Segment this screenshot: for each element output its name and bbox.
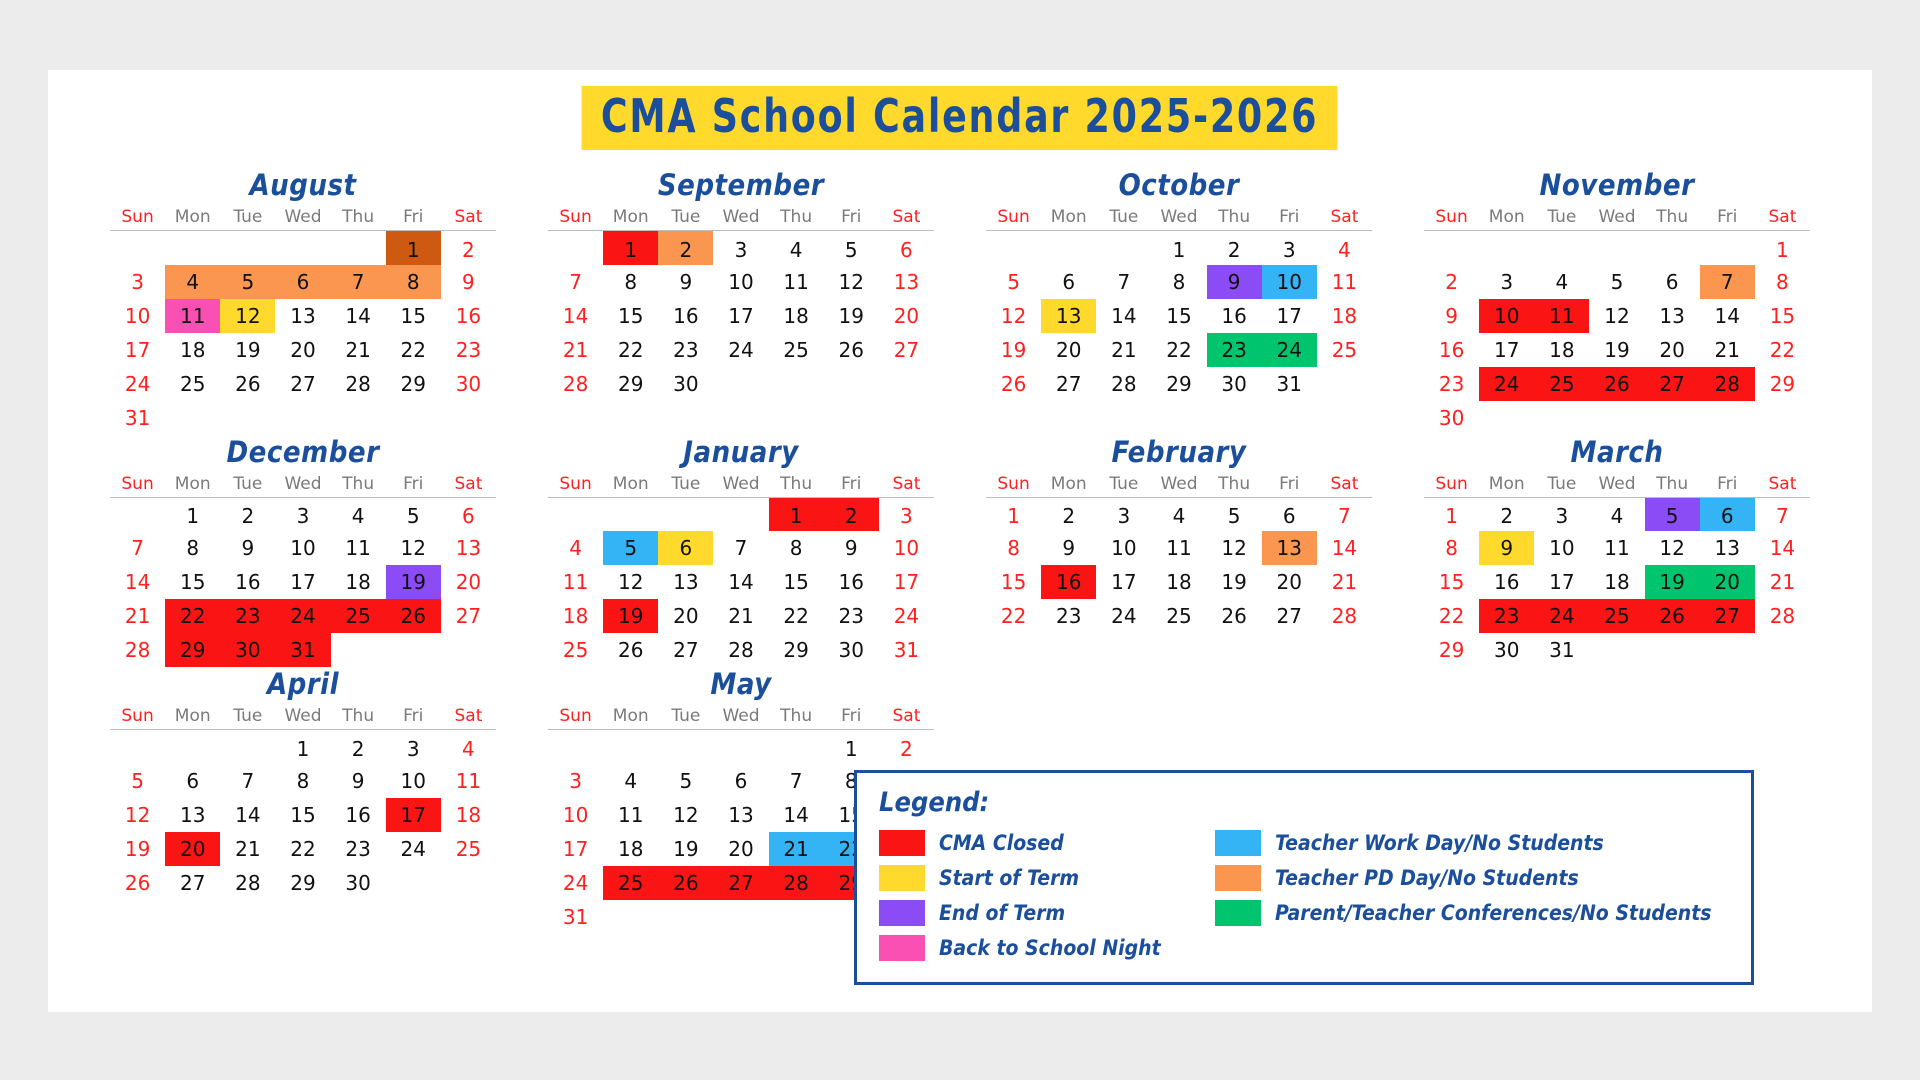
day-cell[interactable]: 2	[1424, 265, 1479, 299]
day-cell[interactable]: 9	[658, 265, 713, 299]
day-cell[interactable]: 30	[1479, 633, 1534, 667]
day-cell[interactable]: 25	[441, 832, 496, 866]
day-cell[interactable]: 11	[548, 565, 603, 599]
day-cell[interactable]: 1	[1151, 231, 1206, 265]
day-cell[interactable]: 28	[1317, 599, 1372, 633]
day-cell[interactable]: 8	[386, 265, 441, 299]
day-cell[interactable]: 3	[713, 231, 768, 265]
day-cell[interactable]: 27	[879, 333, 934, 367]
day-cell[interactable]: 17	[548, 832, 603, 866]
day-cell[interactable]: 14	[548, 299, 603, 333]
day-cell[interactable]: 26	[110, 866, 165, 900]
day-cell[interactable]: 31	[1534, 633, 1589, 667]
day-cell[interactable]: 20	[1645, 333, 1700, 367]
day-cell[interactable]: 17	[110, 333, 165, 367]
day-cell[interactable]: 24	[275, 599, 330, 633]
day-cell[interactable]: 18	[1151, 565, 1206, 599]
day-cell[interactable]: 28	[110, 633, 165, 667]
day-cell[interactable]: 8	[275, 764, 330, 798]
day-cell[interactable]: 18	[165, 333, 220, 367]
day-cell[interactable]: 23	[1041, 599, 1096, 633]
day-cell[interactable]: 2	[824, 497, 879, 531]
day-cell[interactable]: 22	[769, 599, 824, 633]
day-cell[interactable]: 25	[1589, 599, 1644, 633]
day-cell[interactable]: 13	[165, 798, 220, 832]
day-cell[interactable]: 16	[1207, 299, 1262, 333]
day-cell[interactable]: 27	[441, 599, 496, 633]
day-cell[interactable]: 15	[1424, 565, 1479, 599]
day-cell[interactable]: 3	[879, 497, 934, 531]
day-cell[interactable]: 2	[1207, 231, 1262, 265]
day-cell[interactable]: 3	[1534, 497, 1589, 531]
day-cell[interactable]: 17	[275, 565, 330, 599]
day-cell[interactable]: 5	[824, 231, 879, 265]
day-cell[interactable]: 30	[658, 367, 713, 401]
day-cell[interactable]: 15	[275, 798, 330, 832]
day-cell[interactable]: 26	[658, 866, 713, 900]
day-cell[interactable]: 24	[1534, 599, 1589, 633]
day-cell[interactable]: 8	[1755, 265, 1810, 299]
day-cell[interactable]: 27	[713, 866, 768, 900]
day-cell[interactable]: 15	[769, 565, 824, 599]
day-cell[interactable]: 14	[769, 798, 824, 832]
day-cell[interactable]: 20	[713, 832, 768, 866]
day-cell[interactable]: 17	[879, 565, 934, 599]
day-cell[interactable]: 12	[1207, 531, 1262, 565]
day-cell[interactable]: 14	[110, 565, 165, 599]
day-cell[interactable]: 21	[1096, 333, 1151, 367]
day-cell[interactable]: 31	[275, 633, 330, 667]
day-cell[interactable]: 11	[441, 764, 496, 798]
day-cell[interactable]: 23	[658, 333, 713, 367]
day-cell[interactable]: 22	[1755, 333, 1810, 367]
day-cell[interactable]: 25	[548, 633, 603, 667]
day-cell[interactable]: 6	[879, 231, 934, 265]
day-cell[interactable]: 6	[658, 531, 713, 565]
day-cell[interactable]: 1	[386, 231, 441, 265]
day-cell[interactable]: 3	[275, 497, 330, 531]
day-cell[interactable]: 25	[1151, 599, 1206, 633]
day-cell[interactable]: 18	[769, 299, 824, 333]
day-cell[interactable]: 14	[331, 299, 386, 333]
day-cell[interactable]: 7	[548, 265, 603, 299]
day-cell[interactable]: 29	[1424, 633, 1479, 667]
day-cell[interactable]: 13	[1041, 299, 1096, 333]
day-cell[interactable]: 6	[441, 497, 496, 531]
day-cell[interactable]: 9	[331, 764, 386, 798]
day-cell[interactable]: 29	[386, 367, 441, 401]
day-cell[interactable]: 14	[1700, 299, 1755, 333]
day-cell[interactable]: 16	[441, 299, 496, 333]
day-cell[interactable]: 21	[548, 333, 603, 367]
day-cell[interactable]: 19	[824, 299, 879, 333]
day-cell[interactable]: 22	[1424, 599, 1479, 633]
day-cell[interactable]: 28	[1096, 367, 1151, 401]
day-cell[interactable]: 1	[1424, 497, 1479, 531]
day-cell[interactable]: 5	[986, 265, 1041, 299]
day-cell[interactable]: 20	[1700, 565, 1755, 599]
day-cell[interactable]: 23	[441, 333, 496, 367]
day-cell[interactable]: 25	[1534, 367, 1589, 401]
day-cell[interactable]: 26	[1645, 599, 1700, 633]
day-cell[interactable]: 26	[986, 367, 1041, 401]
day-cell[interactable]: 19	[110, 832, 165, 866]
day-cell[interactable]: 11	[603, 798, 658, 832]
day-cell[interactable]: 17	[386, 798, 441, 832]
day-cell[interactable]: 15	[1151, 299, 1206, 333]
day-cell[interactable]: 19	[603, 599, 658, 633]
day-cell[interactable]: 1	[603, 231, 658, 265]
day-cell[interactable]: 10	[879, 531, 934, 565]
day-cell[interactable]: 23	[331, 832, 386, 866]
day-cell[interactable]: 20	[879, 299, 934, 333]
day-cell[interactable]: 12	[110, 798, 165, 832]
day-cell[interactable]: 15	[603, 299, 658, 333]
day-cell[interactable]: 21	[769, 832, 824, 866]
day-cell[interactable]: 20	[1262, 565, 1317, 599]
day-cell[interactable]: 24	[1096, 599, 1151, 633]
day-cell[interactable]: 29	[1151, 367, 1206, 401]
day-cell[interactable]: 2	[441, 231, 496, 265]
day-cell[interactable]: 1	[769, 497, 824, 531]
day-cell[interactable]: 4	[331, 497, 386, 531]
day-cell[interactable]: 8	[1151, 265, 1206, 299]
day-cell[interactable]: 2	[879, 730, 934, 764]
day-cell[interactable]: 10	[713, 265, 768, 299]
day-cell[interactable]: 18	[441, 798, 496, 832]
day-cell[interactable]: 3	[1262, 231, 1317, 265]
day-cell[interactable]: 24	[713, 333, 768, 367]
day-cell[interactable]: 19	[386, 565, 441, 599]
day-cell[interactable]: 1	[824, 730, 879, 764]
day-cell[interactable]: 4	[1317, 231, 1372, 265]
day-cell[interactable]: 28	[1755, 599, 1810, 633]
day-cell[interactable]: 13	[1700, 531, 1755, 565]
day-cell[interactable]: 29	[165, 633, 220, 667]
day-cell[interactable]: 28	[220, 866, 275, 900]
day-cell[interactable]: 27	[275, 367, 330, 401]
day-cell[interactable]: 29	[275, 866, 330, 900]
day-cell[interactable]: 19	[1589, 333, 1644, 367]
day-cell[interactable]: 26	[1207, 599, 1262, 633]
day-cell[interactable]: 20	[275, 333, 330, 367]
day-cell[interactable]: 13	[441, 531, 496, 565]
day-cell[interactable]: 2	[1041, 497, 1096, 531]
day-cell[interactable]: 6	[1645, 265, 1700, 299]
day-cell[interactable]: 9	[1207, 265, 1262, 299]
day-cell[interactable]: 28	[1700, 367, 1755, 401]
day-cell[interactable]: 27	[658, 633, 713, 667]
day-cell[interactable]: 7	[1096, 265, 1151, 299]
day-cell[interactable]: 17	[713, 299, 768, 333]
day-cell[interactable]: 18	[1317, 299, 1372, 333]
day-cell[interactable]: 11	[769, 265, 824, 299]
day-cell[interactable]: 30	[331, 866, 386, 900]
day-cell[interactable]: 12	[1589, 299, 1644, 333]
day-cell[interactable]: 26	[220, 367, 275, 401]
day-cell[interactable]: 8	[1424, 531, 1479, 565]
day-cell[interactable]: 21	[1317, 565, 1372, 599]
day-cell[interactable]: 7	[1317, 497, 1372, 531]
week-row: 1234	[986, 231, 1372, 265]
day-cell[interactable]: 8	[986, 531, 1041, 565]
day-cell[interactable]: 7	[713, 531, 768, 565]
day-cell[interactable]: 3	[1096, 497, 1151, 531]
day-cell[interactable]: 27	[1645, 367, 1700, 401]
day-cell[interactable]: 4	[1151, 497, 1206, 531]
day-cell-empty	[658, 730, 713, 764]
day-cell[interactable]: 14	[1755, 531, 1810, 565]
day-cell[interactable]: 18	[1589, 565, 1644, 599]
day-cell[interactable]: 28	[769, 866, 824, 900]
day-cell[interactable]: 22	[1151, 333, 1206, 367]
day-cell[interactable]: 20	[165, 832, 220, 866]
day-cell[interactable]: 7	[1755, 497, 1810, 531]
day-cell[interactable]: 19	[220, 333, 275, 367]
day-cell[interactable]: 8	[769, 531, 824, 565]
day-cell[interactable]: 8	[165, 531, 220, 565]
day-cell[interactable]: 11	[165, 299, 220, 333]
day-cell[interactable]: 16	[658, 299, 713, 333]
day-cell[interactable]: 30	[220, 633, 275, 667]
day-cell[interactable]: 5	[1589, 265, 1644, 299]
day-cell[interactable]: 25	[331, 599, 386, 633]
day-cell[interactable]: 6	[713, 764, 768, 798]
day-cell-empty	[1645, 401, 1700, 435]
day-cell[interactable]: 14	[1096, 299, 1151, 333]
day-cell[interactable]: 19	[1645, 565, 1700, 599]
day-cell[interactable]: 28	[331, 367, 386, 401]
day-cell[interactable]: 6	[275, 265, 330, 299]
day-cell[interactable]: 17	[1534, 565, 1589, 599]
day-cell[interactable]: 10	[1096, 531, 1151, 565]
day-cell[interactable]: 22	[275, 832, 330, 866]
day-cell[interactable]: 25	[603, 866, 658, 900]
day-cell[interactable]: 2	[1479, 497, 1534, 531]
day-cell[interactable]: 20	[1041, 333, 1096, 367]
day-cell[interactable]: 9	[1479, 531, 1534, 565]
day-cell[interactable]: 12	[1645, 531, 1700, 565]
day-cell[interactable]: 18	[603, 832, 658, 866]
day-cell[interactable]: 1	[1755, 231, 1810, 265]
day-cell[interactable]: 4	[1589, 497, 1644, 531]
day-cell[interactable]: 7	[110, 531, 165, 565]
day-cell[interactable]: 21	[110, 599, 165, 633]
day-cell[interactable]: 3	[548, 764, 603, 798]
day-cell[interactable]: 18	[548, 599, 603, 633]
day-cell[interactable]: 5	[220, 265, 275, 299]
day-cell[interactable]: 10	[1262, 265, 1317, 299]
day-cell[interactable]: 1	[986, 497, 1041, 531]
day-cell[interactable]: 17	[1262, 299, 1317, 333]
day-cell[interactable]: 21	[220, 832, 275, 866]
day-cell[interactable]: 16	[1479, 565, 1534, 599]
day-cell[interactable]: 14	[713, 565, 768, 599]
day-cell[interactable]: 22	[386, 333, 441, 367]
day-cell[interactable]: 6	[1262, 497, 1317, 531]
day-cell[interactable]: 4	[769, 231, 824, 265]
day-cell[interactable]: 10	[275, 531, 330, 565]
day-cell[interactable]: 5	[110, 764, 165, 798]
day-cell[interactable]: 31	[548, 900, 603, 934]
day-cell[interactable]: 5	[1207, 497, 1262, 531]
day-cell[interactable]: 20	[441, 565, 496, 599]
day-cell[interactable]: 25	[165, 367, 220, 401]
day-cell[interactable]: 22	[603, 333, 658, 367]
day-cell[interactable]: 7	[769, 764, 824, 798]
day-cell[interactable]: 16	[1424, 333, 1479, 367]
day-cell[interactable]: 10	[1479, 299, 1534, 333]
day-cell[interactable]: 4	[603, 764, 658, 798]
day-cell[interactable]: 28	[713, 633, 768, 667]
day-cell[interactable]: 5	[658, 764, 713, 798]
day-cell[interactable]: 13	[1645, 299, 1700, 333]
day-cell[interactable]: 8	[603, 265, 658, 299]
day-cell[interactable]: 9	[220, 531, 275, 565]
day-cell[interactable]: 9	[441, 265, 496, 299]
day-cell[interactable]: 23	[1207, 333, 1262, 367]
day-cell[interactable]: 27	[1041, 367, 1096, 401]
weekday-header-mon: Mon	[165, 706, 220, 730]
day-cell[interactable]: 20	[658, 599, 713, 633]
day-cell[interactable]: 29	[769, 633, 824, 667]
day-cell[interactable]: 16	[220, 565, 275, 599]
day-cell[interactable]: 27	[1262, 599, 1317, 633]
day-cell[interactable]: 14	[220, 798, 275, 832]
day-cell[interactable]: 17	[1479, 333, 1534, 367]
day-cell[interactable]: 13	[658, 565, 713, 599]
day-cell[interactable]: 2	[220, 497, 275, 531]
day-cell[interactable]: 12	[220, 299, 275, 333]
day-cell[interactable]: 21	[1755, 565, 1810, 599]
day-cell[interactable]: 31	[879, 633, 934, 667]
day-cell[interactable]: 24	[1262, 333, 1317, 367]
day-cell[interactable]: 30	[824, 633, 879, 667]
day-cell[interactable]: 3	[386, 730, 441, 764]
day-cell[interactable]: 1	[275, 730, 330, 764]
day-cell[interactable]: 5	[603, 531, 658, 565]
day-cell[interactable]: 26	[603, 633, 658, 667]
day-cell[interactable]: 21	[1700, 333, 1755, 367]
day-cell[interactable]: 7	[220, 764, 275, 798]
day-cell[interactable]: 24	[1479, 367, 1534, 401]
day-cell[interactable]: 15	[986, 565, 1041, 599]
day-cell[interactable]: 6	[1041, 265, 1096, 299]
day-cell[interactable]: 26	[1589, 367, 1644, 401]
day-cell[interactable]: 22	[986, 599, 1041, 633]
day-cell[interactable]: 29	[1755, 367, 1810, 401]
day-cell[interactable]: 18	[1534, 333, 1589, 367]
day-cell[interactable]: 12	[386, 531, 441, 565]
day-cell[interactable]: 16	[1041, 565, 1096, 599]
day-cell[interactable]: 4	[165, 265, 220, 299]
day-cell[interactable]: 2	[658, 231, 713, 265]
day-cell[interactable]: 5	[1645, 497, 1700, 531]
day-cell[interactable]: 19	[1207, 565, 1262, 599]
day-cell[interactable]: 12	[658, 798, 713, 832]
day-cell[interactable]: 23	[1479, 599, 1534, 633]
day-cell[interactable]: 11	[1317, 265, 1372, 299]
day-cell[interactable]: 6	[165, 764, 220, 798]
day-cell[interactable]: 27	[165, 866, 220, 900]
day-cell[interactable]: 10	[110, 299, 165, 333]
day-cell[interactable]: 29	[603, 367, 658, 401]
day-cell[interactable]: 6	[1700, 497, 1755, 531]
day-cell[interactable]: 10	[1534, 531, 1589, 565]
day-cell[interactable]: 2	[331, 730, 386, 764]
day-cell[interactable]: 31	[110, 401, 165, 435]
day-cell[interactable]: 5	[386, 497, 441, 531]
day-cell[interactable]: 13	[275, 299, 330, 333]
day-cell[interactable]: 14	[1317, 531, 1372, 565]
day-cell[interactable]: 21	[713, 599, 768, 633]
day-cell[interactable]: 28	[548, 367, 603, 401]
day-cell[interactable]: 19	[986, 333, 1041, 367]
day-cell[interactable]: 15	[1755, 299, 1810, 333]
day-cell[interactable]: 11	[1151, 531, 1206, 565]
day-cell[interactable]: 9	[824, 531, 879, 565]
day-cell[interactable]: 13	[1262, 531, 1317, 565]
day-cell[interactable]: 7	[1700, 265, 1755, 299]
day-cell[interactable]: 16	[824, 565, 879, 599]
day-cell[interactable]: 10	[548, 798, 603, 832]
day-cell[interactable]: 4	[441, 730, 496, 764]
day-cell[interactable]: 16	[331, 798, 386, 832]
day-cell[interactable]: 24	[879, 599, 934, 633]
day-cell[interactable]: 13	[713, 798, 768, 832]
day-cell[interactable]: 19	[658, 832, 713, 866]
day-cell[interactable]: 17	[1096, 565, 1151, 599]
day-cell[interactable]: 4	[548, 531, 603, 565]
day-cell[interactable]: 30	[1207, 367, 1262, 401]
day-cell[interactable]: 24	[548, 866, 603, 900]
day-cell[interactable]: 12	[603, 565, 658, 599]
day-cell[interactable]: 21	[331, 333, 386, 367]
day-cell[interactable]: 23	[220, 599, 275, 633]
day-cell[interactable]: 3	[110, 265, 165, 299]
day-cell[interactable]: 12	[824, 265, 879, 299]
day-cell[interactable]: 26	[824, 333, 879, 367]
day-cell[interactable]: 31	[1262, 367, 1317, 401]
day-cell[interactable]: 4	[1534, 265, 1589, 299]
day-cell[interactable]: 9	[1041, 531, 1096, 565]
day-cell[interactable]: 30	[1424, 401, 1479, 435]
day-cell[interactable]: 25	[769, 333, 824, 367]
day-cell[interactable]: 12	[986, 299, 1041, 333]
day-cell[interactable]: 11	[1589, 531, 1644, 565]
day-cell[interactable]: 15	[386, 299, 441, 333]
day-cell[interactable]: 23	[824, 599, 879, 633]
day-cell[interactable]: 11	[1534, 299, 1589, 333]
day-cell[interactable]: 11	[331, 531, 386, 565]
day-cell[interactable]: 30	[441, 367, 496, 401]
day-cell[interactable]: 22	[165, 599, 220, 633]
day-cell[interactable]: 9	[1424, 299, 1479, 333]
day-cell[interactable]: 24	[110, 367, 165, 401]
day-cell[interactable]: 1	[165, 497, 220, 531]
day-cell[interactable]: 26	[386, 599, 441, 633]
day-cell[interactable]: 3	[1479, 265, 1534, 299]
day-cell[interactable]: 7	[331, 265, 386, 299]
day-cell[interactable]: 25	[1317, 333, 1372, 367]
day-cell[interactable]: 24	[386, 832, 441, 866]
day-cell[interactable]: 15	[165, 565, 220, 599]
day-cell[interactable]: 18	[331, 565, 386, 599]
day-cell[interactable]: 10	[386, 764, 441, 798]
day-cell[interactable]: 23	[1424, 367, 1479, 401]
day-cell[interactable]: 13	[879, 265, 934, 299]
day-cell[interactable]: 27	[1700, 599, 1755, 633]
